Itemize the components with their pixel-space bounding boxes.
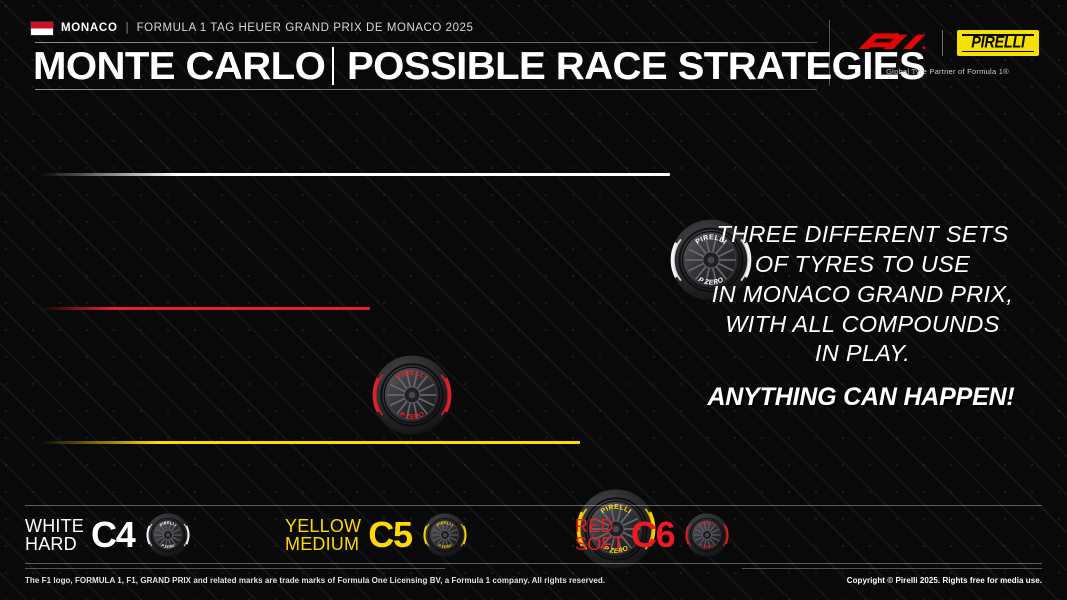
headline-copy-line: OF TYRES TO USE xyxy=(690,250,1035,280)
infographic-canvas: MONACO | FORMULA 1 TAG HEUER GRAND PRIX … xyxy=(0,0,1067,600)
header-rule-bottom xyxy=(35,89,817,90)
headline-copy-line: IN PLAY. xyxy=(690,339,1035,369)
footer-copyright: Copyright © Pirelli 2025. Rights free fo… xyxy=(847,576,1042,585)
compound-legend: WHITEHARDC4 xyxy=(0,500,1067,564)
eyebrow-country: MONACO xyxy=(61,22,118,34)
tyre-legend-c6-icon: PIRELLI P ZERO xyxy=(684,512,730,558)
red-soft-strategy-tyre: PIRELLI P ZERO xyxy=(370,353,454,442)
legend-item-hard[interactable]: WHITEHARDC4 xyxy=(25,512,191,558)
yellow-medium-strategy-line xyxy=(40,441,580,444)
legend-compound-code: C6 xyxy=(631,518,675,552)
legend-item-soft[interactable]: REDSOFTC6 xyxy=(575,512,730,558)
title-divider xyxy=(332,47,334,85)
footer-rule-left xyxy=(25,568,445,569)
legend-type-word: SOFT xyxy=(575,535,624,553)
legend-tyre-icon-wrap: PIRELLI P ZERO xyxy=(422,512,468,558)
legend-rule-top xyxy=(25,505,1042,506)
eyebrow-event-name: FORMULA 1 TAG HEUER GRAND PRIX DE MONACO… xyxy=(137,22,474,34)
legend-item-medium[interactable]: YELLOWMEDIUMC5 xyxy=(285,512,468,558)
tyre-legend-c4-icon: PIRELLI P ZERO xyxy=(145,512,191,558)
headline-copy-line: THREE DIFFERENT SETS xyxy=(690,220,1035,250)
legend-type-word: HARD xyxy=(25,535,84,553)
monaco-flag-icon xyxy=(30,21,54,36)
logo-tagline: Global Tyre Partner of Formula 1® xyxy=(845,67,1050,76)
breadcrumb: MONACO | FORMULA 1 TAG HEUER GRAND PRIX … xyxy=(30,18,473,38)
f1-logo-icon xyxy=(856,31,928,55)
legend-item-words: REDSOFT xyxy=(575,517,624,554)
legend-compound-code: C4 xyxy=(91,518,135,552)
headline-copy: THREE DIFFERENT SETSOF TYRES TO USEIN MO… xyxy=(690,220,1035,369)
red-soft-strategy-line xyxy=(40,307,370,310)
punch-line: ANYTHING CAN HAPPEN! xyxy=(676,383,1046,412)
footer: The F1 logo, FORMULA 1, F1, GRAND PRIX a… xyxy=(0,564,1067,600)
legend-type-word: MEDIUM xyxy=(285,535,361,553)
legend-color-word: RED xyxy=(575,517,624,535)
header-rule-top xyxy=(35,42,817,43)
page-title-subject: POSSIBLE RACE STRATEGIES xyxy=(347,47,925,86)
header: MONACO | FORMULA 1 TAG HEUER GRAND PRIX … xyxy=(0,0,1067,95)
legend-color-word: WHITE xyxy=(25,517,84,535)
logo-separator xyxy=(942,30,943,56)
footer-rule-right xyxy=(742,568,1042,569)
headline-copy-line: IN MONACO GRAND PRIX, xyxy=(690,280,1035,310)
logo-area-divider xyxy=(829,20,830,86)
main-content: PIRELLI P ZERO xyxy=(0,95,1067,500)
tyre-soft-icon: PIRELLI P ZERO xyxy=(370,353,454,437)
pirelli-logo-text: PIRELLI xyxy=(971,34,1025,52)
page-title: MONTE CARLO POSSIBLE RACE STRATEGIES xyxy=(33,44,908,88)
white-hard-strategy-line xyxy=(40,173,670,176)
tyre-legend-c5-icon: PIRELLI P ZERO xyxy=(422,512,468,558)
headline-copy-line: WITH ALL COMPOUNDS xyxy=(690,310,1035,340)
legend-tyre-icon-wrap: PIRELLI P ZERO xyxy=(684,512,730,558)
logo-row: PIRELLI xyxy=(845,26,1050,60)
footer-legal-text: The F1 logo, FORMULA 1, F1, GRAND PRIX a… xyxy=(25,576,605,585)
eyebrow-separator: | xyxy=(126,22,129,34)
logo-lockup: PIRELLI Global Tyre Partner of Formula 1… xyxy=(845,26,1050,82)
legend-item-words: WHITEHARD xyxy=(25,517,84,554)
legend-tyre-icon-wrap: PIRELLI P ZERO xyxy=(145,512,191,558)
legend-color-word: YELLOW xyxy=(285,517,361,535)
pirelli-logo-icon: PIRELLI xyxy=(957,30,1039,56)
legend-compound-code: C5 xyxy=(368,518,412,552)
legend-item-words: YELLOWMEDIUM xyxy=(285,517,361,554)
page-title-location: MONTE CARLO xyxy=(33,47,325,86)
